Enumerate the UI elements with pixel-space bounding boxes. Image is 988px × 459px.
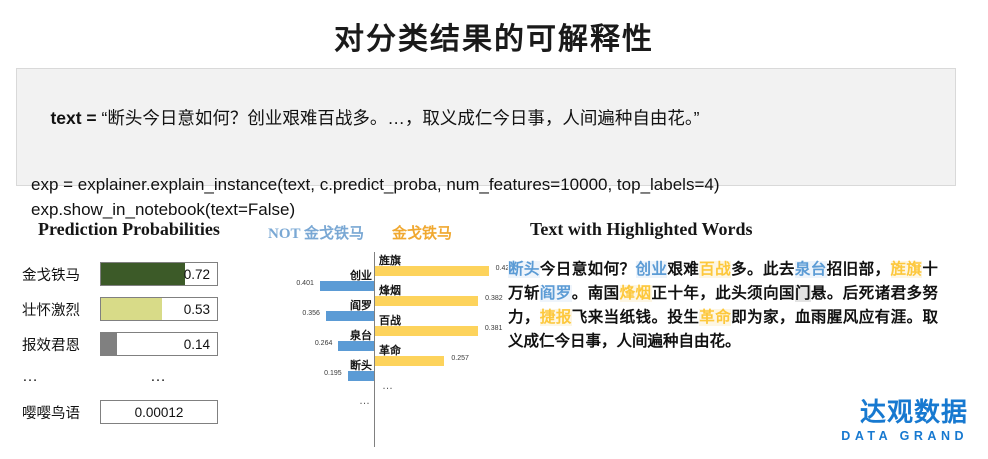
prediction-row-ellipsis: … … bbox=[22, 367, 262, 387]
lime-bar-chart: 旌旗0.421烽烟0.382百战0.381革命0.257…创业0.401阎罗0.… bbox=[264, 252, 499, 447]
highlight-negative-word: 创业 bbox=[636, 261, 668, 278]
lime-bar-row: 断头0.195 bbox=[264, 357, 499, 387]
lime-negative-class-heading: NOT 金戈铁马 bbox=[268, 222, 364, 243]
prediction-bar-fill bbox=[101, 298, 162, 320]
lime-bar-value: 0.356 bbox=[302, 310, 320, 317]
prediction-bar: 0.53 bbox=[100, 297, 218, 321]
lime-bar-value: 0.195 bbox=[324, 370, 342, 377]
prediction-row: 壮怀激烈 0.53 bbox=[22, 297, 262, 321]
code-line-explain-instance: exp = explainer.explain_instance(text, c… bbox=[31, 172, 941, 197]
lime-bar-row: 创业0.401 bbox=[264, 267, 499, 297]
highlight-positive-word: 旌旗 bbox=[891, 261, 923, 278]
lime-bar-value: 0.401 bbox=[296, 280, 314, 287]
plain-text: 今日意如何？ bbox=[540, 261, 636, 278]
prediction-class-label-ellipsis: … bbox=[22, 368, 100, 386]
code-line-text-assignment: text = “断头今日意如何？创业艰难百战多。…，取义成仁今日事，人间遍种自由… bbox=[31, 81, 941, 156]
prediction-value: 0.14 bbox=[184, 337, 210, 352]
prediction-class-label: 壮怀激烈 bbox=[22, 299, 100, 320]
prediction-class-label: 嘤嘤鸟语 bbox=[22, 402, 100, 423]
lime-bar-negative bbox=[326, 311, 374, 321]
lime-positive-class-heading: 金戈铁马 bbox=[392, 222, 452, 243]
prediction-probabilities-heading: Prediction Probabilities bbox=[38, 219, 220, 240]
prediction-bar: 0.00012 bbox=[100, 400, 218, 424]
highlight-neutral-word: 门 bbox=[795, 285, 811, 302]
prediction-value: 0.00012 bbox=[135, 405, 184, 420]
prediction-row: 报效君恩 0.14 bbox=[22, 332, 262, 356]
highlighted-text-body: 断头今日意如何？创业艰难百战多。此去泉台招旧部，旌旗十万斩阎罗。南国烽烟正十年，… bbox=[508, 258, 938, 354]
brand-logo-cn: 达观数据 bbox=[841, 397, 968, 427]
plain-text: 招旧部， bbox=[827, 261, 891, 278]
highlight-positive-word: 捷报 bbox=[540, 309, 572, 326]
highlight-negative-word: 泉台 bbox=[795, 261, 827, 278]
brand-logo-en: DATA GRAND bbox=[841, 427, 968, 445]
prediction-value: 0.72 bbox=[184, 267, 210, 282]
lime-bar-negative bbox=[348, 371, 374, 381]
prediction-row: 金戈铁马 0.72 bbox=[22, 262, 262, 286]
highlight-positive-word: 革命 bbox=[699, 309, 731, 326]
plain-text: 。南国 bbox=[572, 285, 620, 302]
lime-bar-row: 阎罗0.356 bbox=[264, 297, 499, 327]
brand-logo: 达观数据 DATA GRAND bbox=[841, 397, 968, 445]
prediction-bar: 0.72 bbox=[100, 262, 218, 286]
prediction-value-ellipsis: … bbox=[100, 368, 218, 386]
lime-bar-row: 泉台0.264 bbox=[264, 327, 499, 357]
lime-bar-row: … bbox=[264, 387, 499, 417]
lime-ellipsis: … bbox=[359, 395, 371, 407]
highlight-positive-word: 百战 bbox=[699, 261, 731, 278]
highlight-positive-word: 烽烟 bbox=[620, 285, 652, 302]
plain-text: 多。此去 bbox=[731, 261, 795, 278]
code-text-value: “断头今日意如何？创业艰难百战多。…，取义成仁今日事，人间遍种自由花。” bbox=[102, 108, 700, 128]
lime-bar-negative bbox=[338, 341, 374, 351]
prediction-class-label: 报效君恩 bbox=[22, 334, 100, 355]
prediction-bar: 0.14 bbox=[100, 332, 218, 356]
prediction-probabilities-list: 金戈铁马 0.72 壮怀激烈 0.53 报效君恩 0.14 … … 嘤嘤鸟语 0… bbox=[22, 262, 262, 435]
prediction-bar-fill bbox=[101, 333, 117, 355]
plain-text: 飞来当纸钱。投生 bbox=[572, 309, 700, 326]
prediction-value: 0.53 bbox=[184, 302, 210, 317]
prediction-bar-fill bbox=[101, 263, 185, 285]
highlighted-text-heading: Text with Highlighted Words bbox=[530, 219, 753, 240]
lime-bar-negative bbox=[320, 281, 374, 291]
plain-text: 艰难 bbox=[667, 261, 699, 278]
prediction-row: 嘤嘤鸟语 0.00012 bbox=[22, 400, 262, 424]
page-title: 对分类结果的可解释性 bbox=[0, 14, 988, 58]
prediction-class-label: 金戈铁马 bbox=[22, 264, 100, 285]
code-block: text = “断头今日意如何？创业艰难百战多。…，取义成仁今日事，人间遍种自由… bbox=[16, 68, 956, 186]
highlight-negative-word: 阎罗 bbox=[540, 285, 572, 302]
code-text-var: text = bbox=[50, 108, 101, 128]
lime-bar-value: 0.264 bbox=[315, 340, 333, 347]
plain-text: 正十年，此头须向国 bbox=[652, 285, 795, 302]
highlight-negative-word: 断头 bbox=[508, 261, 540, 278]
